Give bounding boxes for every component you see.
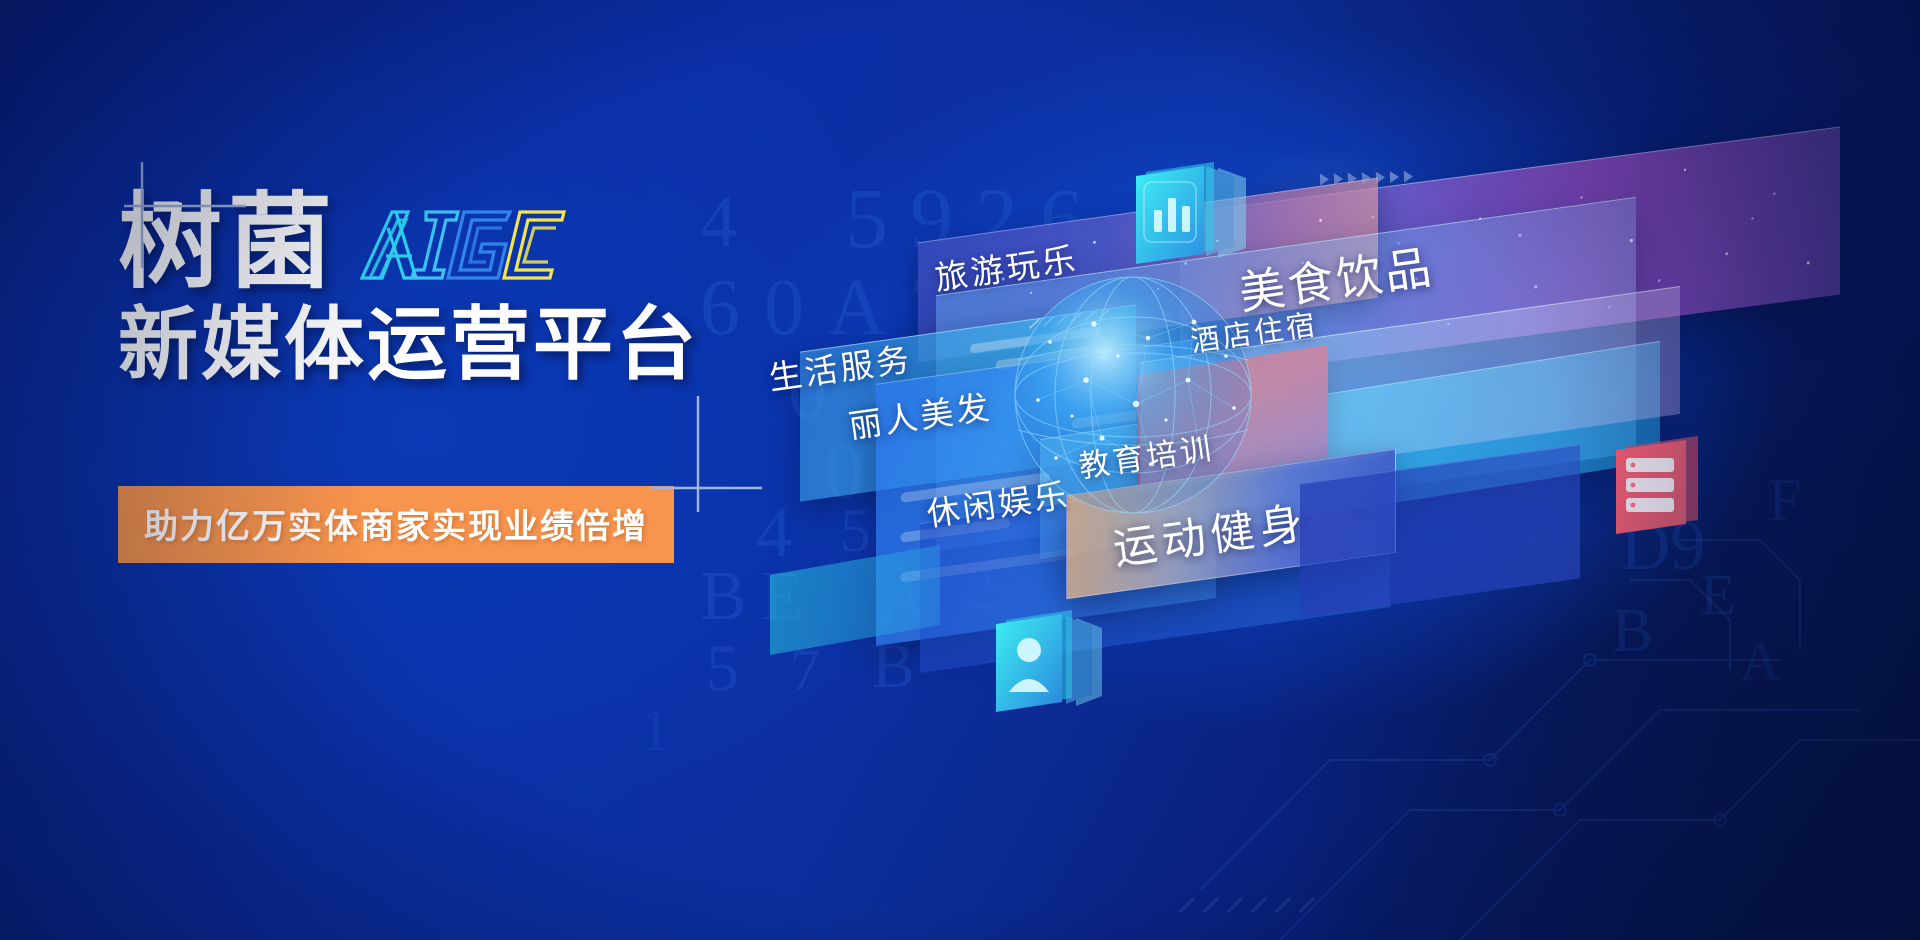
brand-name-cn: 树菌: [118, 190, 338, 296]
brand-subtitle: 新媒体运营平台: [118, 300, 758, 390]
user-profile-icon[interactable]: [984, 598, 1114, 726]
category-collage: 旅游玩乐 美食饮品 生活服务 酒店住宿 丽人美发 教育培训 休闲娱乐 运动健身: [740, 60, 1920, 760]
brand-title-row: 树菌: [118, 190, 758, 296]
promo-banner: 4 5926 4 60A7 8 C 0 E2 BE 9 0 7 0 9 3 4 …: [0, 0, 1920, 940]
server-list-icon[interactable]: [1602, 428, 1722, 546]
bg-glyph: 1: [640, 700, 670, 760]
hero-copy: 树菌: [118, 150, 758, 563]
tagline-badge[interactable]: 助力亿万实体商家实现业绩倍增: [118, 486, 674, 563]
bg-glyph: 5: [706, 636, 739, 702]
aigc-wordmark: [356, 206, 568, 284]
